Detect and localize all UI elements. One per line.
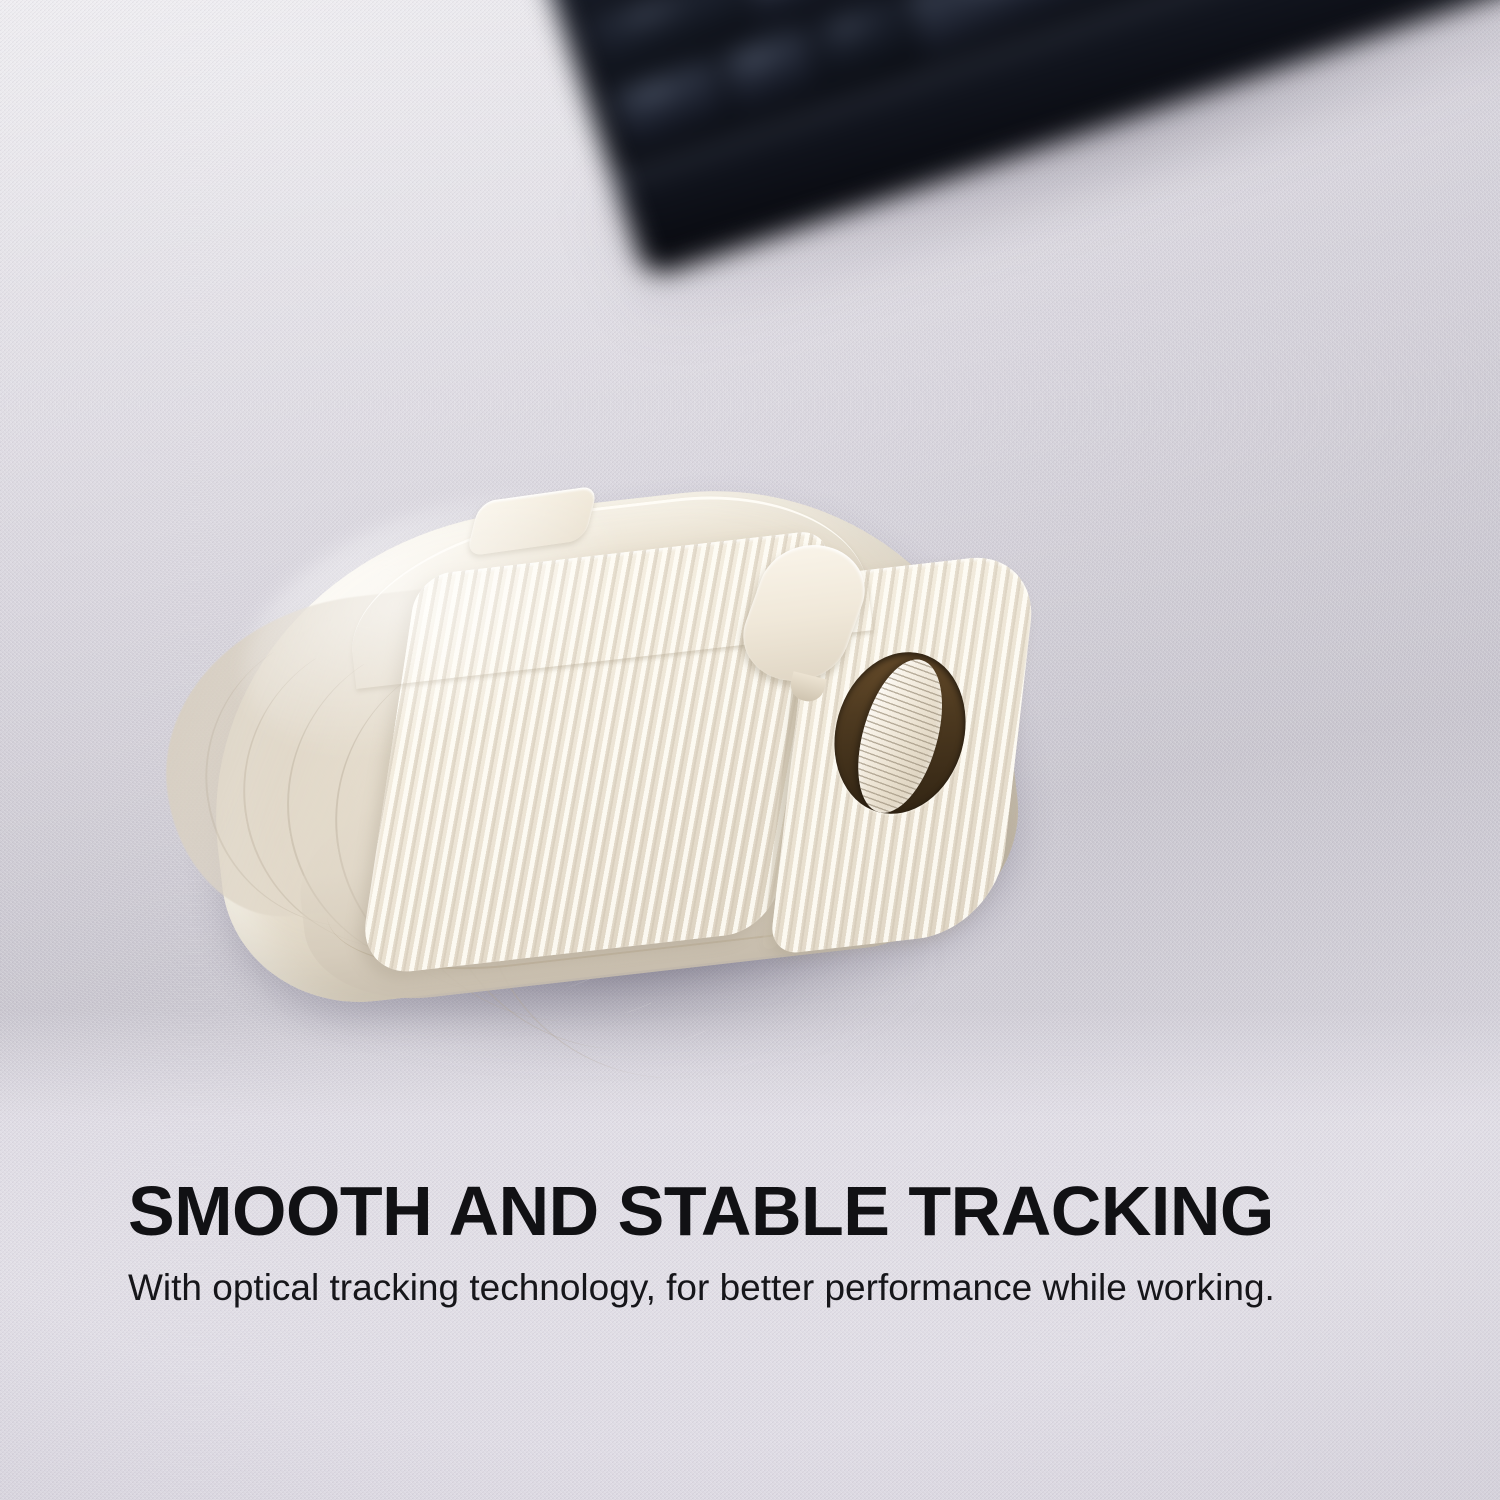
subtitle: With optical tracking technology, for be… <box>128 1262 1398 1315</box>
product-banner: SMOOTH AND STABLE TRACKING With optical … <box>0 0 1500 1500</box>
headline: SMOOTH AND STABLE TRACKING <box>128 1176 1274 1246</box>
